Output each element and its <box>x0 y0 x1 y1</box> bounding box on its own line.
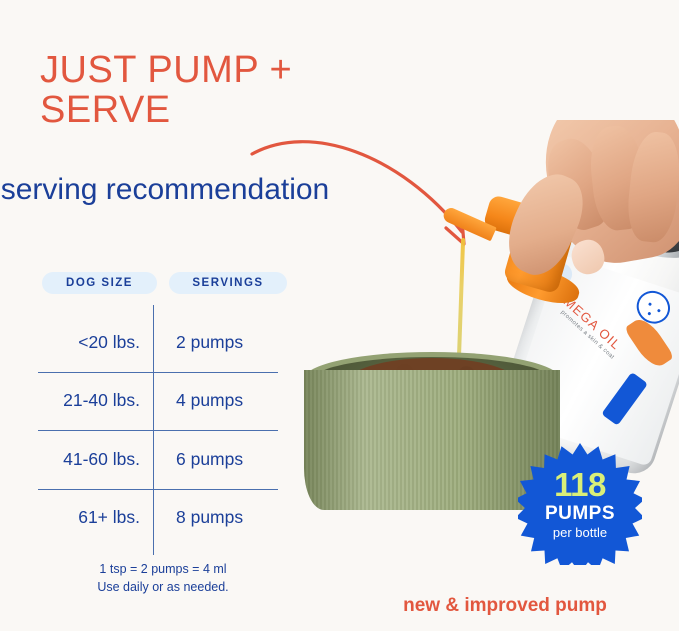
infographic-root: JUST PUMP + SERVE serving recommendation… <box>0 0 679 631</box>
cell-dog-size: <20 lbs. <box>38 332 154 353</box>
cell-dog-size: 41-60 lbs. <box>38 449 154 470</box>
label-accent-bar <box>601 372 648 426</box>
column-header-servings: SERVINGS <box>169 272 287 294</box>
badge-sublabel: per bottle <box>553 526 607 539</box>
hand <box>496 120 679 340</box>
cell-servings: 4 pumps <box>154 390 278 411</box>
cell-servings: 6 pumps <box>154 449 278 470</box>
footnote-line-1: 1 tsp = 2 pumps = 4 ml <box>38 560 288 578</box>
serving-table: <20 lbs. 2 pumps 21-40 lbs. 4 pumps 41-6… <box>38 313 278 547</box>
bottom-caption: new & improved pump <box>355 595 655 617</box>
cell-servings: 2 pumps <box>154 332 278 353</box>
table-row: 61+ lbs. 8 pumps <box>38 489 278 548</box>
pumps-per-bottle-badge: 118 PUMPS per bottle <box>518 441 642 565</box>
table-row: 41-60 lbs. 6 pumps <box>38 430 278 489</box>
cell-dog-size: 21-40 lbs. <box>38 390 154 411</box>
cell-servings: 8 pumps <box>154 507 278 528</box>
footnote-line-2: Use daily or as needed. <box>38 578 288 596</box>
cell-dog-size: 61+ lbs. <box>38 507 154 528</box>
subheading: serving recommendation <box>0 173 330 208</box>
footnote: 1 tsp = 2 pumps = 4 ml Use daily or as n… <box>38 560 288 596</box>
table-row: 21-40 lbs. 4 pumps <box>38 372 278 431</box>
badge-number: 118 <box>554 468 606 501</box>
badge-text-group: 118 PUMPS per bottle <box>518 441 642 565</box>
table-header-pills: DOG SIZE SERVINGS <box>42 272 287 294</box>
page-title: JUST PUMP + SERVE <box>40 50 380 131</box>
badge-label: PUMPS <box>545 504 615 523</box>
column-header-dog-size: DOG SIZE <box>42 272 157 294</box>
table-row: <20 lbs. 2 pumps <box>38 313 278 372</box>
